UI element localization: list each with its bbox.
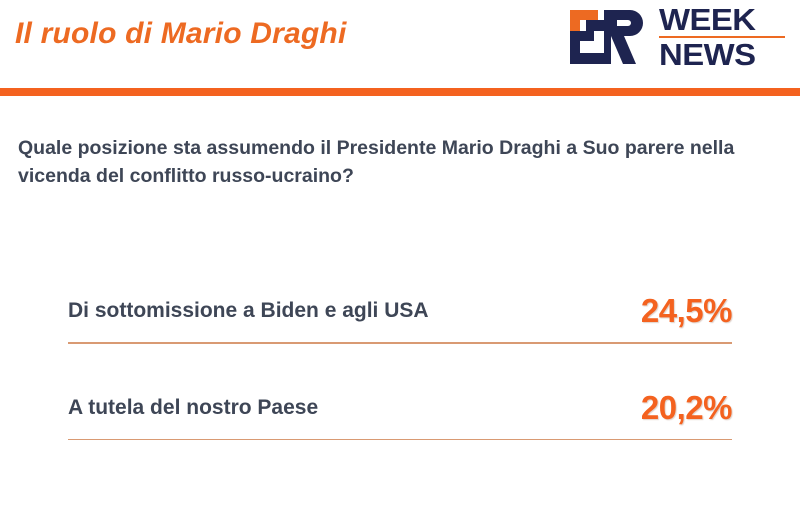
result-label: Di sottomissione a Biden e agli USA: [68, 299, 429, 323]
poll-question: Quale posizione sta assumendo il Preside…: [18, 134, 758, 191]
table-row: Di sottomissione a Biden e agli USA 24,5…: [68, 280, 732, 342]
table-row: A tutela del nostro Paese 20,2%: [68, 377, 732, 439]
page-title: Il ruolo di Mario Draghi: [15, 17, 346, 51]
result-percentage: 24,5%: [602, 292, 732, 330]
result-percentage: 20,2%: [602, 389, 732, 427]
result-label: A tutela del nostro Paese: [68, 396, 318, 420]
header-accent-bar: [0, 88, 800, 96]
logo-word-news: NEWS: [659, 39, 793, 70]
poll-results: Di sottomissione a Biden e agli USA 24,5…: [0, 280, 800, 440]
cr-monogram-icon: [564, 7, 652, 67]
logo-wordmark: WEEK NEWS: [659, 4, 785, 70]
logo-word-week: WEEK: [659, 4, 793, 35]
row-divider: [68, 439, 732, 441]
row-spacer: [0, 344, 800, 377]
page-header: Il ruolo di Mario Draghi WEEK NEWS: [0, 0, 800, 88]
brand-logo[interactable]: WEEK NEWS: [564, 6, 785, 68]
